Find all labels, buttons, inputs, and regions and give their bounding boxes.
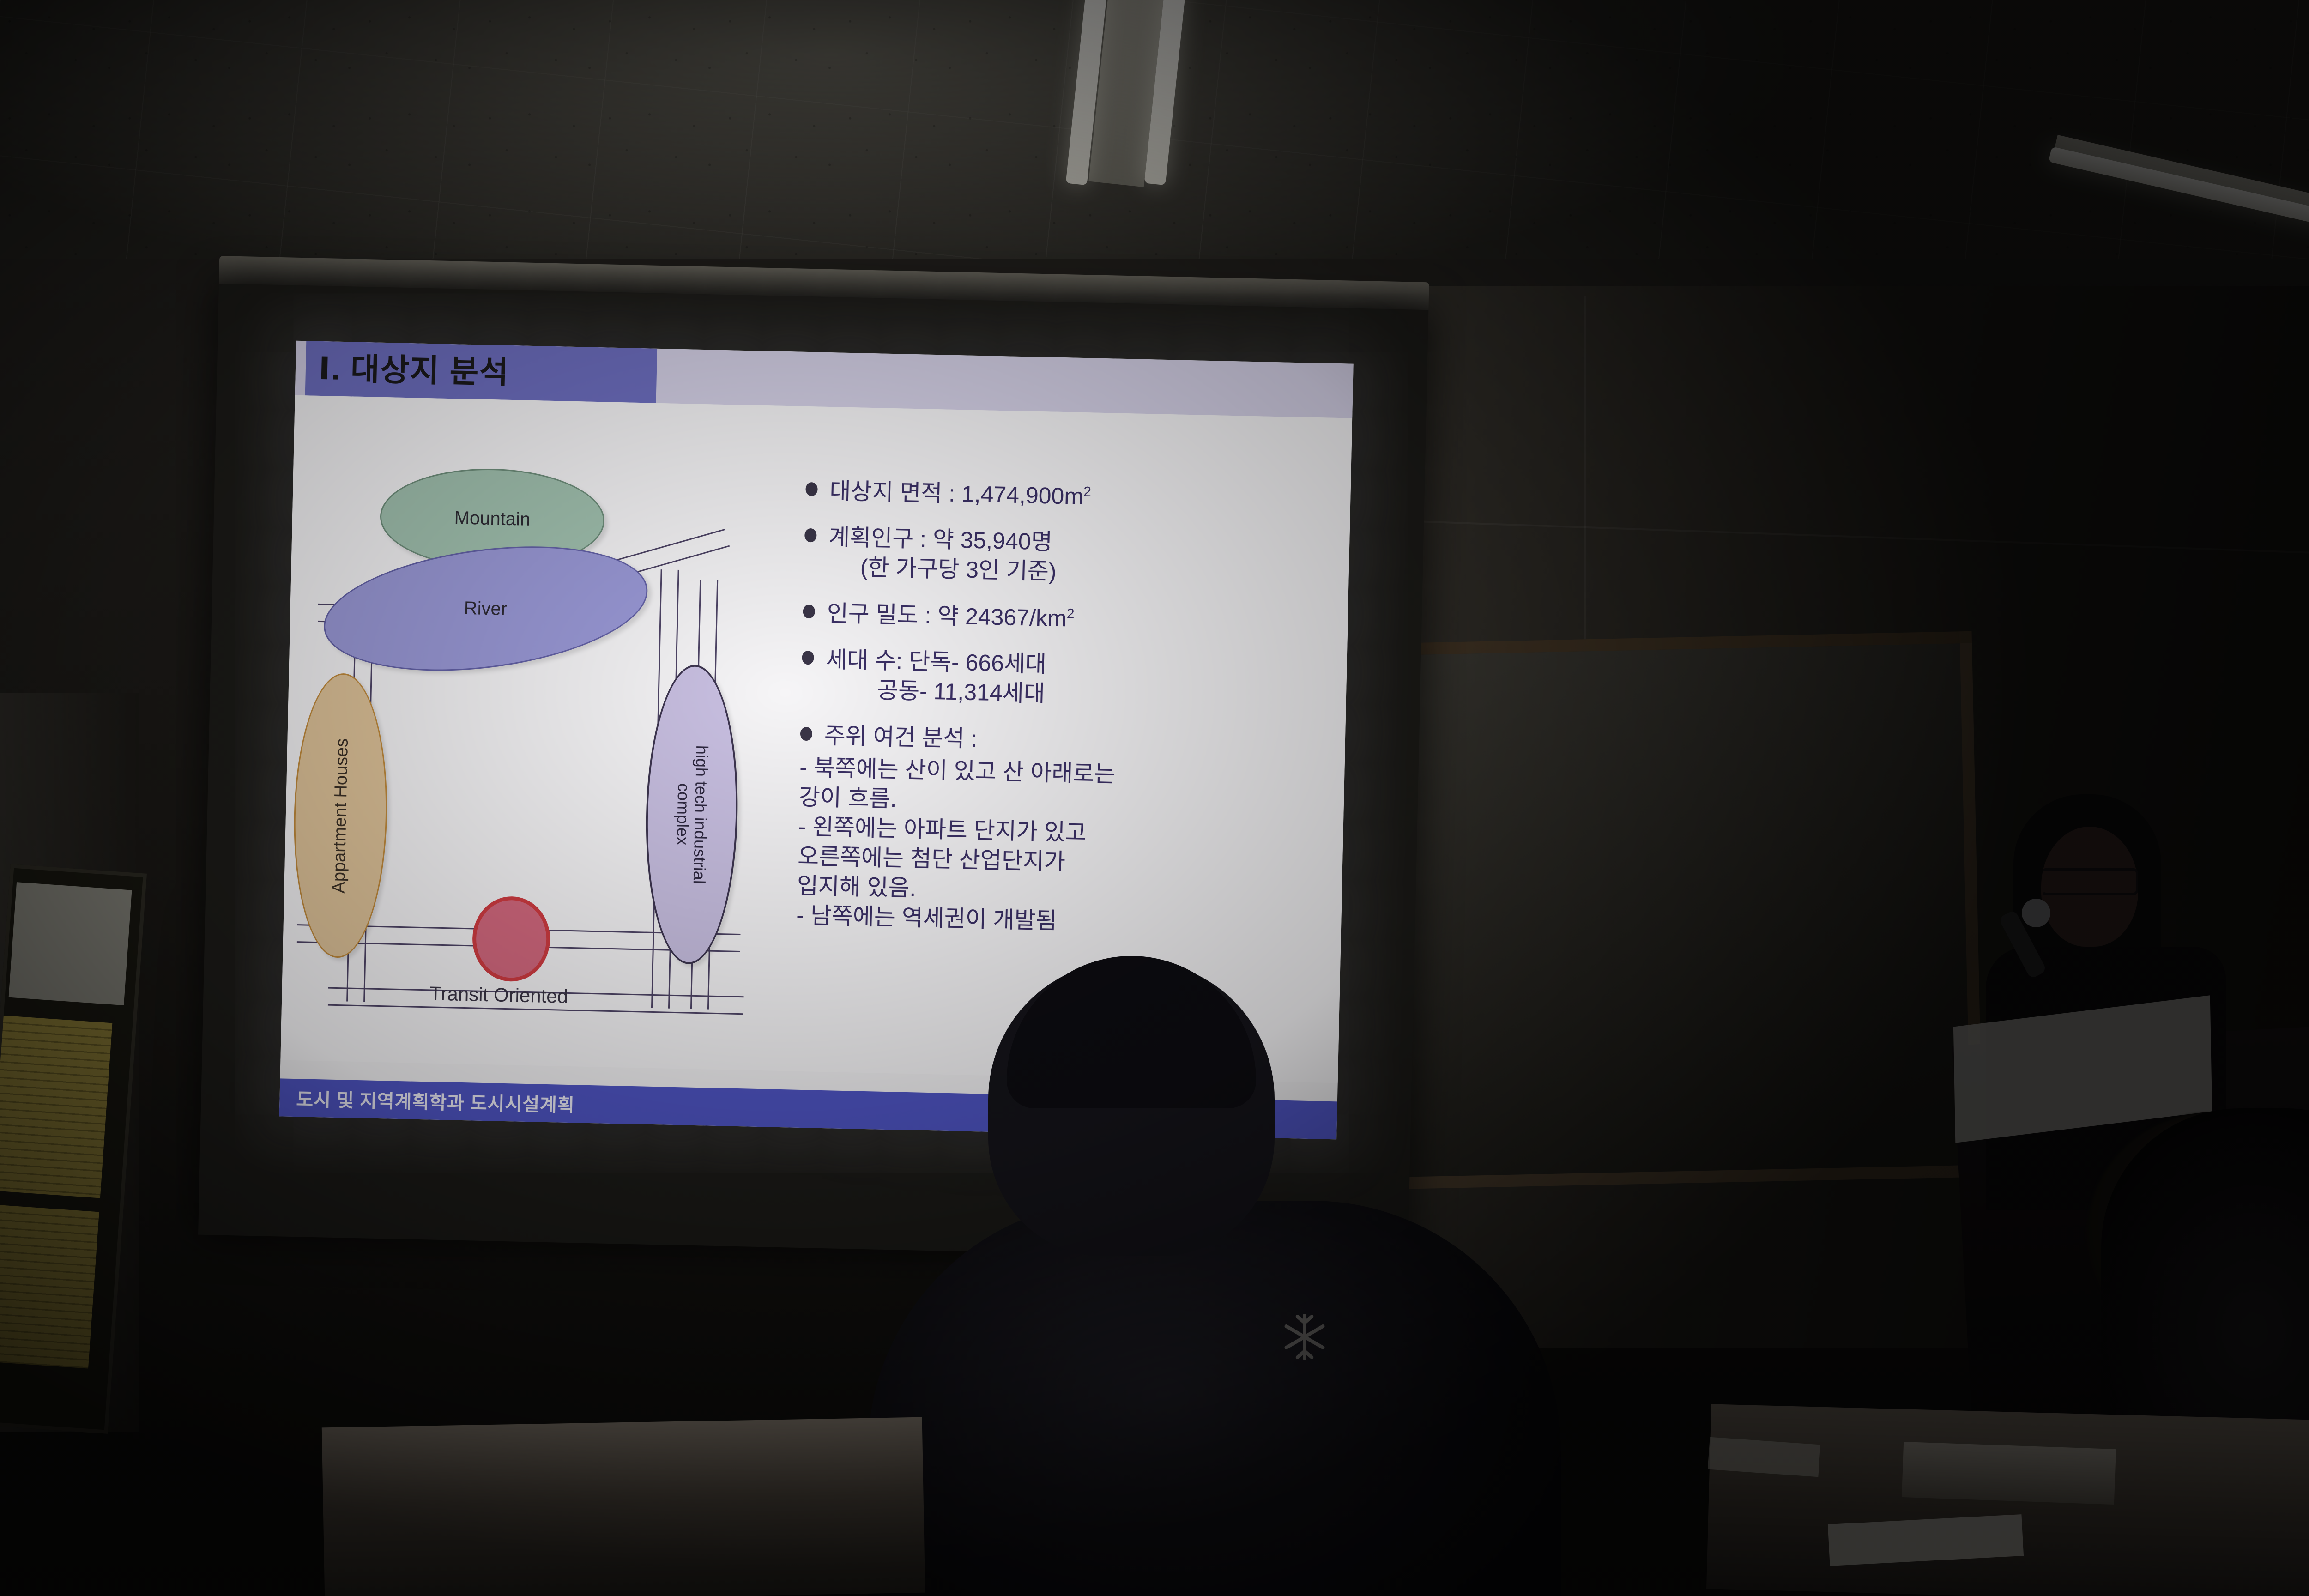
bullet-text: 대상지 면적 : 1,474,900m2 xyxy=(829,476,1092,511)
book-on-desk xyxy=(1902,1442,2116,1505)
transit-oriented-circle xyxy=(471,895,551,982)
audience-cap xyxy=(1007,956,1256,1108)
page-title: Ⅰ. 대상지 분석 xyxy=(305,352,509,388)
site-analysis-diagram: Mountain River Appartment Houses high te… xyxy=(300,456,788,1043)
mountain-label: Mountain xyxy=(454,508,531,530)
bullet-label: 계획인구 : 약 35,940명 xyxy=(828,524,1053,555)
desk-left xyxy=(322,1417,925,1596)
bullet-label: 인구 밀도 : 약 24367/km xyxy=(827,600,1067,631)
bullet-text: 세대 수: 단독- 666세대 공동- 11,314세대 xyxy=(825,645,1046,709)
apartment-houses-ellipse: Appartment Houses xyxy=(291,672,390,959)
bullet-subline: 공동- 11,314세대 xyxy=(825,674,1046,709)
bullet-subline: (한 가구당 3인 기준) xyxy=(828,552,1057,587)
snowflake-icon xyxy=(1279,1312,1330,1362)
tech-complex-label-line1: high tech industrial xyxy=(690,745,711,884)
bullet-superscript: 2 xyxy=(1083,484,1091,499)
transit-oriented-label: Transit Oriented xyxy=(429,982,568,1008)
bullet-text: 인구 밀도 : 약 24367/km2 xyxy=(827,598,1075,634)
bullet-item: 계획인구 : 약 35,940명 (한 가구당 3인 기준) xyxy=(804,522,1336,593)
bullet-superscript: 2 xyxy=(1066,606,1074,622)
bullet-text: 주위 여건 분석 : xyxy=(824,721,978,754)
bullet-dot-icon xyxy=(805,482,818,496)
bullet-item: 인구 밀도 : 약 24367/km2 xyxy=(803,598,1334,639)
bullet-list: 대상지 면적 : 1,474,900m2 계획인구 : 약 35,940명 (한… xyxy=(796,476,1337,942)
bullet-dot-icon xyxy=(803,605,815,619)
lecture-room-photo: Ⅰ. 대상지 분석 xyxy=(0,0,2309,1596)
tech-complex-label: high tech industrial complex xyxy=(673,745,711,884)
river-label: River xyxy=(464,598,508,619)
bullet-dot-icon xyxy=(802,651,814,665)
bullet-item: 세대 수: 단독- 666세대 공동- 11,314세대 xyxy=(801,644,1333,715)
dash-note-list: - 북쪽에는 산이 있고 산 아래로는 강이 흐름. - 왼쪽에는 아파트 단지… xyxy=(796,753,1331,942)
glasses-icon xyxy=(2041,868,2138,895)
bullet-label: 세대 수: 단독- 666세대 xyxy=(826,647,1047,677)
bullet-dot-icon xyxy=(804,528,817,543)
audience-member-front xyxy=(868,961,1561,1596)
slide-title-block: Ⅰ. 대상지 분석 xyxy=(305,341,657,403)
apartment-houses-label: Appartment Houses xyxy=(329,738,352,894)
audience-shoulders xyxy=(868,1201,1561,1596)
bullet-label: 대상지 면적 : 1,474,900m xyxy=(829,478,1084,509)
microphone-icon xyxy=(2022,899,2050,927)
bullet-item: 대상지 면적 : 1,474,900m2 xyxy=(805,476,1337,517)
bullet-dot-icon xyxy=(800,727,813,741)
slide-footer-text: 도시 및 지역계획학과 도시시설계획 xyxy=(279,1084,575,1117)
bullet-text: 계획인구 : 약 35,940명 (한 가구당 3인 기준) xyxy=(828,522,1057,587)
bullet-label: 주위 여건 분석 : xyxy=(824,723,978,752)
